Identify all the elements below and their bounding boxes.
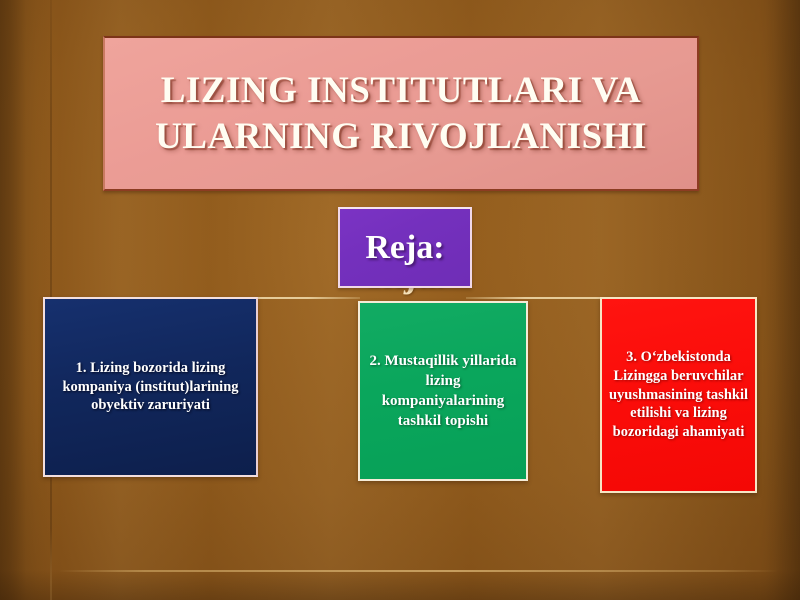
agenda-item-3-label: 3. O‘zbekistonda Lizingga beruvchilar uy… <box>602 348 755 442</box>
agenda-item-1-box[interactable]: 1. Lizing bozorida lizing kompaniya (ins… <box>43 297 258 477</box>
panel-right-shadow <box>766 0 800 600</box>
agenda-header-box: Reja: <box>338 207 472 288</box>
agenda-item-1-label: 1. Lizing bozorida lizing kompaniya (ins… <box>45 359 256 416</box>
slide-title-banner: LIZING INSTITUTLARI VA ULARNING RIVOJLAN… <box>103 36 699 191</box>
panel-bottom-shadow <box>0 570 800 600</box>
agenda-item-3-box[interactable]: 3. O‘zbekistonda Lizingga beruvchilar uy… <box>600 297 757 493</box>
page-title: LIZING INSTITUTLARI VA ULARNING RIVOJLAN… <box>105 68 697 160</box>
slide-canvas: LIZING INSTITUTLARI VA ULARNING RIVOJLAN… <box>0 0 800 600</box>
agenda-item-2-label: 2. Mustaqillik yillarida lizing kompaniy… <box>360 351 526 431</box>
agenda-item-2-box[interactable]: 2. Mustaqillik yillarida lizing kompaniy… <box>358 301 528 481</box>
agenda-header-label: Reja: <box>365 229 444 267</box>
panel-bottom-edge <box>58 570 778 572</box>
